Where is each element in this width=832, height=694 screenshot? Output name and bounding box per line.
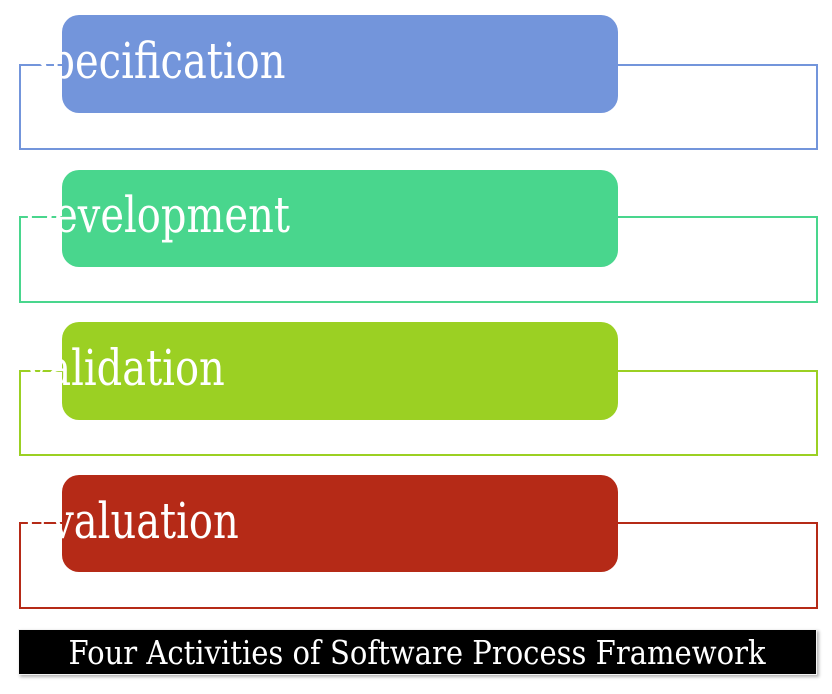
activity-label-development: Development xyxy=(22,190,290,240)
diagram-caption-bar: Four Activities of Software Process Fram… xyxy=(18,629,817,675)
activity-label-validation: Validation xyxy=(22,343,225,393)
activity-label-evaluation: Evaluation xyxy=(22,496,239,546)
diagram-caption-text: Four Activities of Software Process Fram… xyxy=(69,636,766,669)
activity-label-specification: Specification xyxy=(22,36,286,86)
process-framework-diagram: Specification Development Validation Eva… xyxy=(0,0,832,694)
